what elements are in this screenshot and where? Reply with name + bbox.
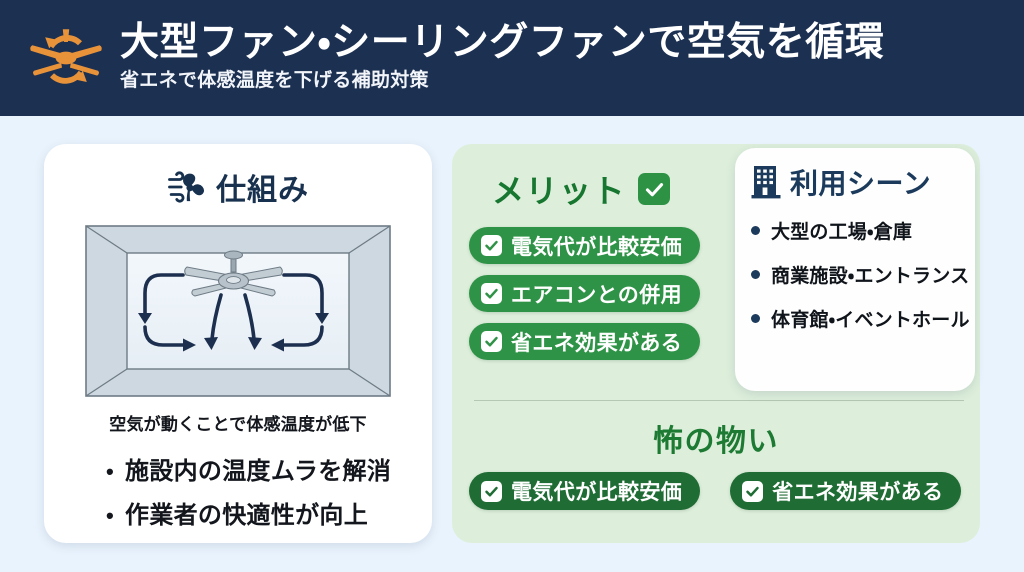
check-glyph [484,286,499,301]
ceiling-fan-rotation-icon [26,18,106,98]
page-title: 大型ファン・シーリングファンで空気を循環 [120,21,884,65]
check-glyph [484,238,499,253]
scene-heading: 利用シーン [751,162,975,202]
checkbox-checked-icon [742,481,763,502]
bottom-pill-label: 電気代が比較安価 [511,476,682,506]
list-item-label: 大型の工場・倉庫 [771,217,912,244]
building-icon [751,165,781,199]
merit-pill[interactable]: エアコンとの併用 [469,275,700,312]
list-item: 商業施設・エントランス [751,261,975,288]
bullet-dot [751,314,760,323]
wind-fan-icon [167,170,207,204]
mechanism-heading: 仕組み [167,165,309,209]
merit-pill-list: 電気代が比較安価 エアコンとの併用 省エネ効果がある [469,227,700,360]
check-glyph [745,484,760,499]
bullet-dot [751,270,760,279]
merit-pill-label: 省エネ効果がある [511,327,682,357]
list-item: 体育館・イベントホール [751,305,975,332]
check-glyph [484,334,499,349]
list-item-label: 作業者の快適性が向上 [125,495,368,530]
bottom-pill[interactable]: 電気代が比較安価 [469,472,700,510]
list-item: • 施設内の温度ムラを解消 [106,451,391,486]
bottom-pill[interactable]: 省エネ効果がある [730,472,961,510]
check-glyph [644,179,665,200]
mechanism-card: 仕組み [44,144,432,543]
page-subtitle: 省エネで体感温度を下げる補助対策 [120,70,884,93]
merit-heading: メリット [492,166,670,212]
scene-card: 利用シーン 大型の工場・倉庫 商業施設・エントランス 体育館・イベントホール [735,148,975,391]
bullet-dot: • [106,505,114,527]
merit-pill-label: 電気代が比較安価 [511,231,682,261]
header-banner: 大型ファン・シーリングファンで空気を循環 省エネで体感温度を下げる補助対策 [0,0,1024,116]
merit-pill-label: エアコンとの併用 [511,279,682,309]
list-item-label: 施設内の温度ムラを解消 [125,451,391,486]
list-item: • 作業者の快適性が向上 [106,495,368,530]
checkbox-checked-icon [481,331,502,352]
bottom-pill-label: 省エネ効果がある [772,476,943,506]
check-glyph [484,484,499,499]
checkbox-checked-icon [481,481,502,502]
list-item: 大型の工場・倉庫 [751,217,975,244]
bullet-dot: • [106,461,114,483]
scene-list: 大型の工場・倉庫 商業施設・エントランス 体育館・イベントホール [751,217,975,332]
merit-pill[interactable]: 電気代が比較安価 [469,227,700,264]
bottom-pill-list: 電気代が比較安価 省エネ効果がある [469,472,969,510]
list-item-label: 体育館・イベントホール [771,305,970,332]
merit-title: メリット [492,166,626,212]
checkbox-checked-icon [481,283,502,304]
merit-pill[interactable]: 省エネ効果がある [469,323,700,360]
mechanism-caption: 空気が動くことで体感温度が低下 [109,410,367,435]
infographic-page: 大型ファン・シーリングファンで空気を循環 省エネで体感温度を下げる補助対策 仕組 [0,0,1024,572]
header-text-block: 大型ファン・シーリングファンで空気を循環 省エネで体感温度を下げる補助対策 [120,21,884,92]
room-airflow-diagram [83,223,393,399]
mechanism-bullet-list: • 施設内の温度ムラを解消 • 作業者の快適性が向上 [44,451,432,530]
bottom-section-title: 怖の物い [452,416,980,460]
check-icon [638,173,670,205]
panel-divider [474,400,964,401]
room-diagram-svg [83,223,393,399]
scene-title: 利用シーン [790,162,931,202]
bullet-dot [751,226,760,235]
checkbox-checked-icon [481,235,502,256]
mechanism-title: 仕組み [216,165,309,209]
list-item-label: 商業施設・エントランス [771,261,969,288]
